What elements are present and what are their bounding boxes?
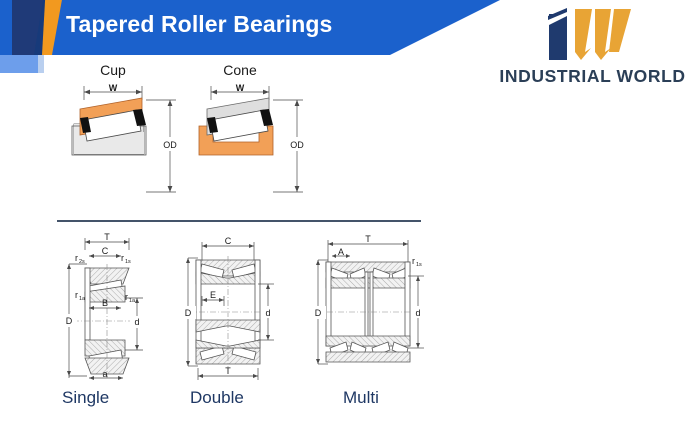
single-dim-c-label: C xyxy=(102,246,109,256)
cup-dim-od-label: OD xyxy=(163,140,177,150)
single-radius-sub-3: 1a xyxy=(79,296,86,302)
multi-dim-d-label: D xyxy=(315,308,322,318)
multi-dim-t-label: T xyxy=(365,234,371,244)
cone-dim-od-label: OD xyxy=(290,140,304,150)
diagram-cup-caption: Cup xyxy=(58,62,168,78)
single-radius-sub-4: 1a xyxy=(129,298,136,304)
diagram-cone-drawing: W OD xyxy=(185,62,315,202)
caption-multi: Multi xyxy=(343,388,379,408)
double-dim-c-label: C xyxy=(225,236,232,246)
diagram-single-drawing: T C r 2s r 1s D xyxy=(55,228,185,380)
multi-radius-sub-1: 1s xyxy=(416,262,422,268)
logo-iw-mark xyxy=(545,8,645,60)
single-dim-t-label: T xyxy=(104,232,110,242)
multi-dim-a-label: A xyxy=(338,247,344,257)
double-dim-small-d-label: d xyxy=(265,308,270,318)
cone-dim-w-label: W xyxy=(236,83,245,93)
multi-radius-label-1: r xyxy=(412,256,415,266)
single-radius-label-2: r xyxy=(121,253,124,263)
single-dim-b-label: B xyxy=(102,298,108,308)
header-light-block-edge xyxy=(38,55,44,73)
diagram-double: C D E d xyxy=(178,228,296,380)
single-dim-small-d-label: d xyxy=(134,317,139,327)
diagram-cone-caption: Cone xyxy=(185,62,295,78)
double-dim-t-label: T xyxy=(225,366,231,376)
header-light-block xyxy=(0,55,38,73)
multi-dim-small-d-label: d xyxy=(415,308,420,318)
section-divider xyxy=(57,220,421,222)
double-dim-d-label: D xyxy=(185,308,192,318)
diagram-single: T C r 2s r 1s D xyxy=(55,228,185,380)
cup-dim-w-label: W xyxy=(109,83,118,93)
double-dim-e-label: E xyxy=(210,290,216,300)
diagram-double-drawing: C D E d xyxy=(178,228,296,380)
diagram-cup-drawing: W OD xyxy=(58,62,188,202)
diagram-cone: Cone W OD xyxy=(185,62,315,202)
caption-single: Single xyxy=(62,388,109,408)
single-dim-d-label: D xyxy=(66,316,73,326)
diagram-cup: Cup W OD xyxy=(58,62,188,202)
caption-double: Double xyxy=(190,388,244,408)
single-radius-sub-2: 1s xyxy=(125,259,131,265)
logo-text: INDUSTRIAL WORLD xyxy=(490,66,695,87)
single-radius-label-4: r xyxy=(125,292,128,302)
page-title: Tapered Roller Bearings xyxy=(66,11,332,38)
single-dim-a-label: a xyxy=(102,369,107,379)
single-radius-label-1: r xyxy=(75,253,78,263)
single-radius-label-3: r xyxy=(75,290,78,300)
logo: INDUSTRIAL WORLD xyxy=(490,8,695,96)
diagram-multi-drawing: T A r 1s r 1a xyxy=(308,228,433,380)
diagram-multi: T A r 1s r 1a xyxy=(308,228,433,380)
